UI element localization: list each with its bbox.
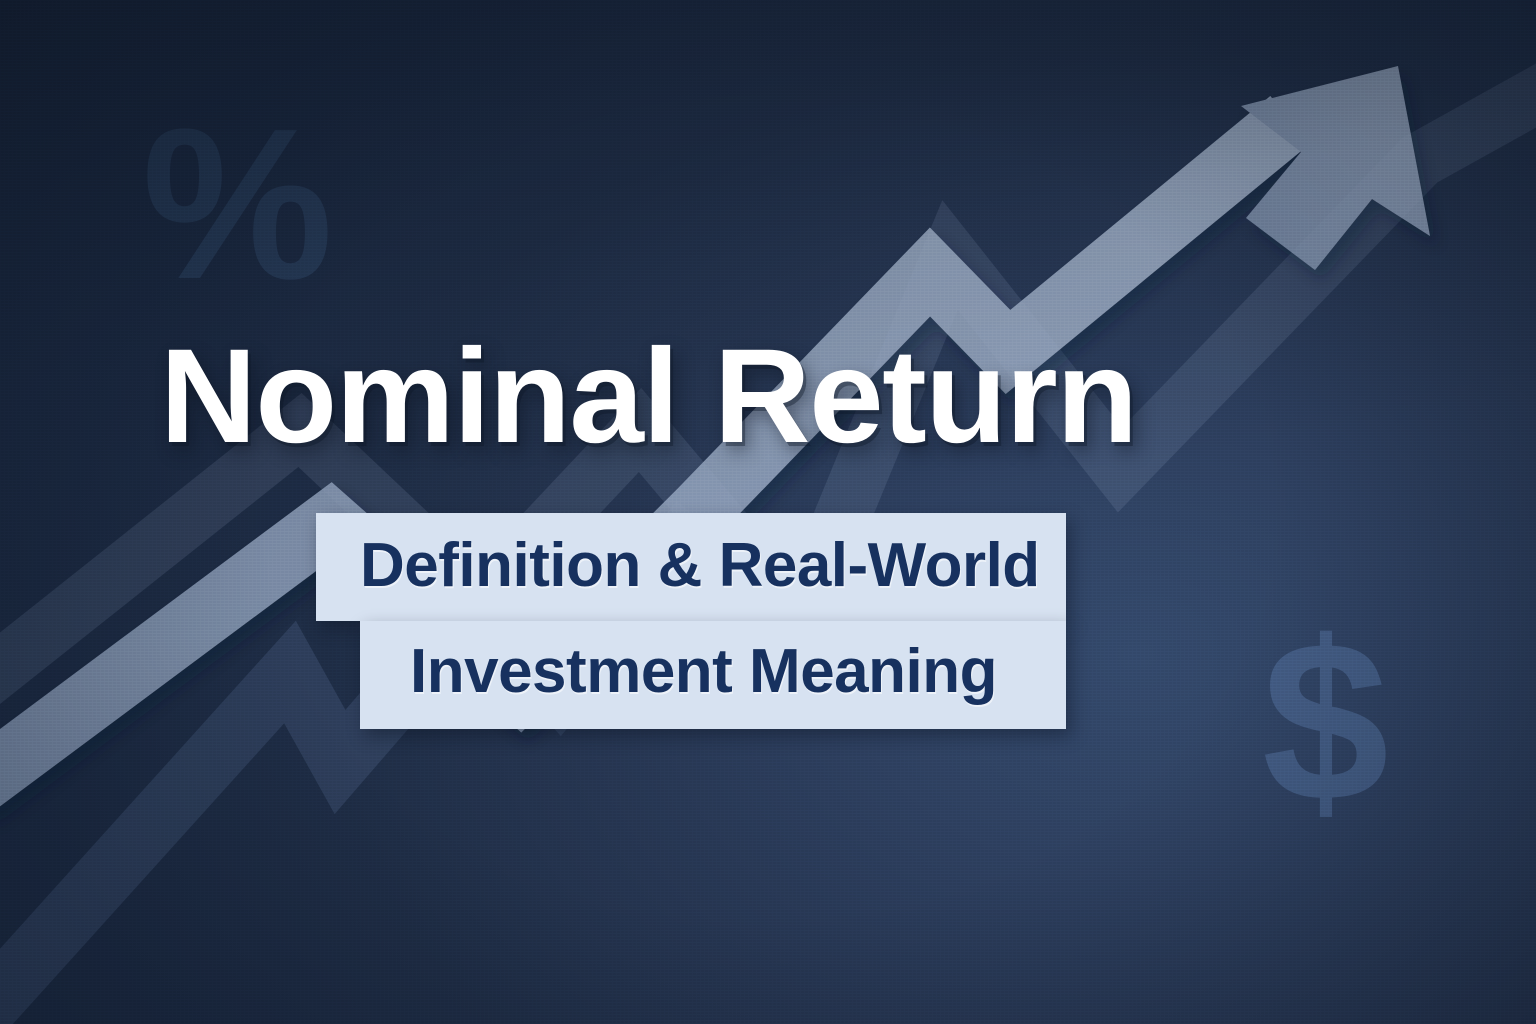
hero-banner: % $ Nominal Return Definiti bbox=[0, 0, 1536, 1024]
subtitle-line-1: Definition & Real-World bbox=[316, 513, 1066, 621]
subtitle-line-2: Investment Meaning bbox=[360, 621, 1066, 729]
hero-text-block: Nominal Return Definition & Real-World I… bbox=[0, 0, 1536, 1024]
subtitle-group: Definition & Real-World Investment Meani… bbox=[316, 513, 1066, 729]
page-title: Nominal Return bbox=[160, 330, 1137, 464]
